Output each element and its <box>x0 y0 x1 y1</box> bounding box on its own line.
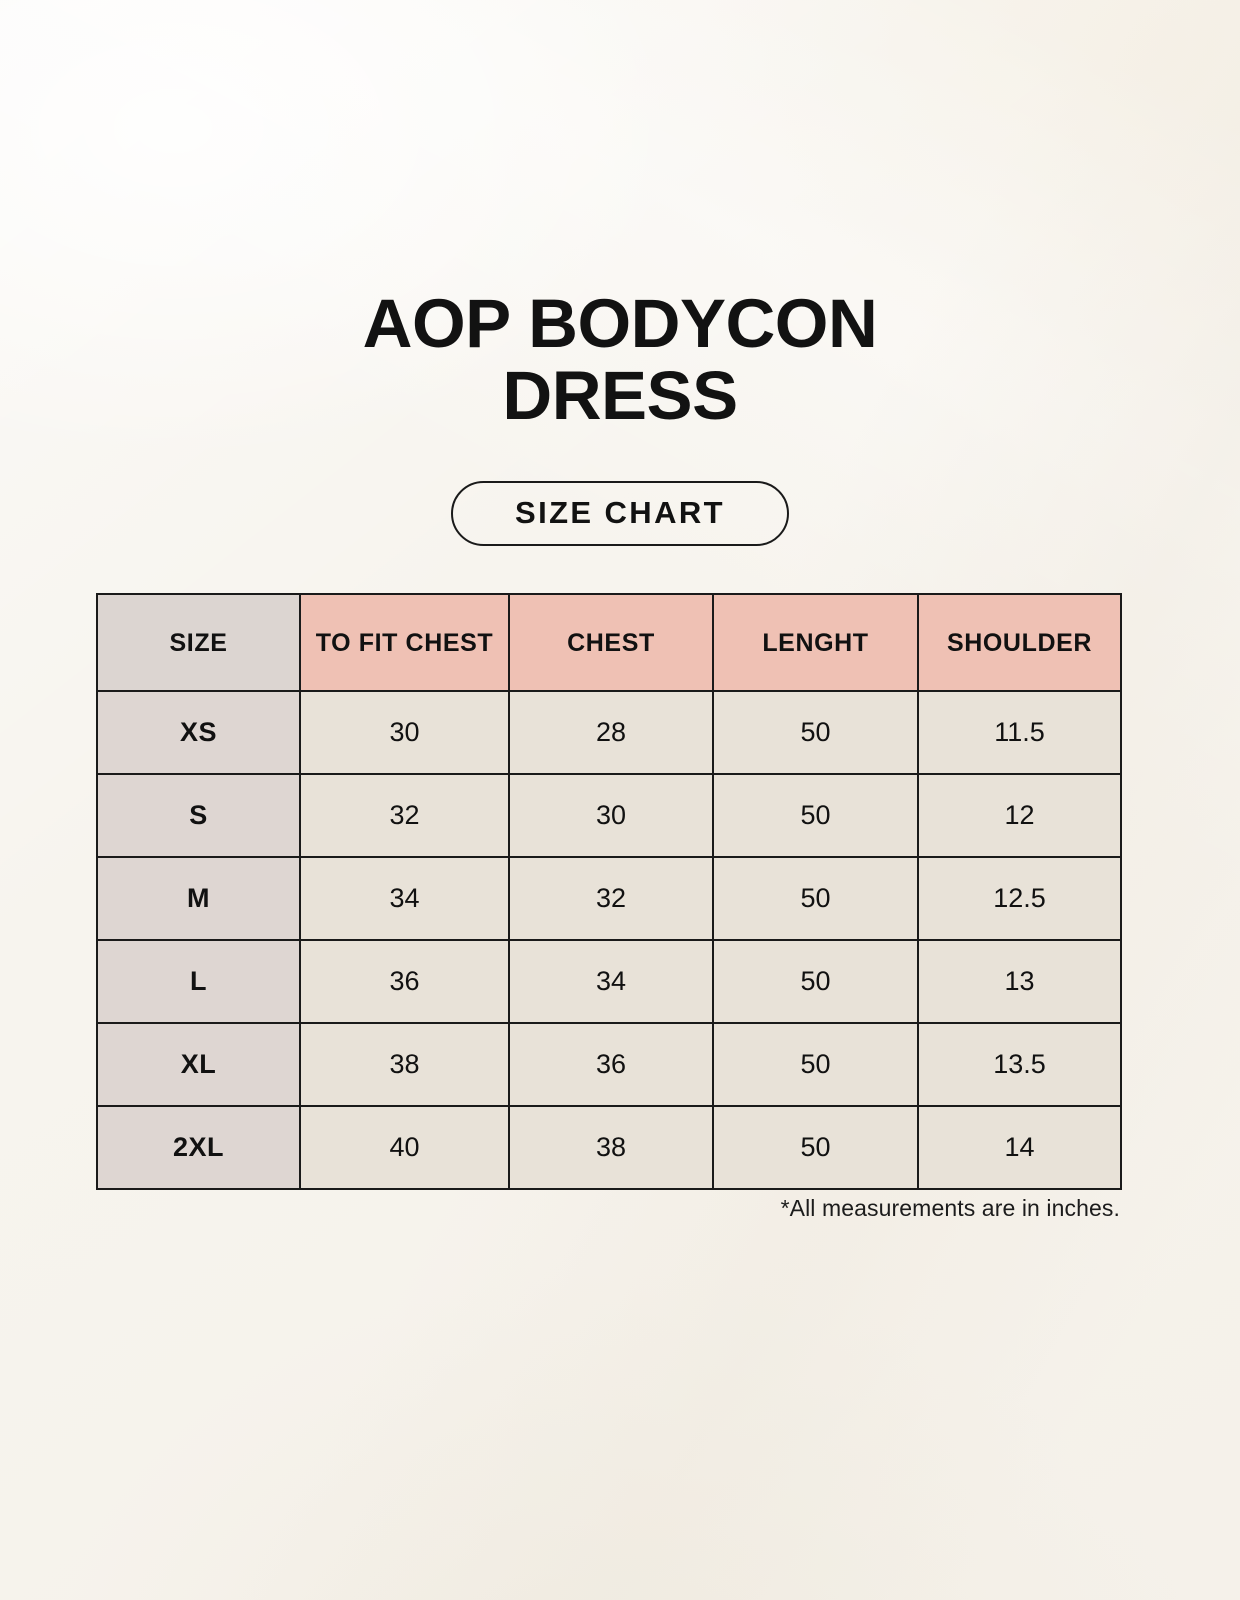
size-chart-table: SIZE TO FIT CHEST CHEST LENGHT SHOULDER … <box>96 593 1122 1190</box>
cell-shoulder: 14 <box>918 1106 1121 1189</box>
cell-chest: 34 <box>509 940 713 1023</box>
cell-shoulder: 12.5 <box>918 857 1121 940</box>
cell-length: 50 <box>713 940 918 1023</box>
column-header-to-fit-chest: TO FIT CHEST <box>300 594 509 691</box>
size-chart-page: AOP BODYCON DRESS SIZE CHART SIZE TO FIT… <box>0 0 1240 1600</box>
cell-length: 50 <box>713 691 918 774</box>
column-header-shoulder: SHOULDER <box>918 594 1121 691</box>
cell-to-fit-chest: 36 <box>300 940 509 1023</box>
table-row: 2XL 40 38 50 14 <box>97 1106 1121 1189</box>
table-row: XL 38 36 50 13.5 <box>97 1023 1121 1106</box>
cell-size: S <box>97 774 300 857</box>
table-row: XS 30 28 50 11.5 <box>97 691 1121 774</box>
table-header: SIZE TO FIT CHEST CHEST LENGHT SHOULDER <box>97 594 1121 691</box>
cell-size: M <box>97 857 300 940</box>
cell-to-fit-chest: 32 <box>300 774 509 857</box>
cell-length: 50 <box>713 1023 918 1106</box>
table-row: L 36 34 50 13 <box>97 940 1121 1023</box>
table-header-row: SIZE TO FIT CHEST CHEST LENGHT SHOULDER <box>97 594 1121 691</box>
size-chart-badge: SIZE CHART <box>451 481 789 546</box>
cell-length: 50 <box>713 1106 918 1189</box>
page-title-line-1: AOP BODYCON <box>363 285 878 362</box>
cell-chest: 38 <box>509 1106 713 1189</box>
cell-shoulder: 11.5 <box>918 691 1121 774</box>
size-chart-table-wrapper: SIZE TO FIT CHEST CHEST LENGHT SHOULDER … <box>96 593 1120 1190</box>
cell-chest: 36 <box>509 1023 713 1106</box>
cell-chest: 30 <box>509 774 713 857</box>
cell-to-fit-chest: 40 <box>300 1106 509 1189</box>
cell-to-fit-chest: 38 <box>300 1023 509 1106</box>
cell-shoulder: 12 <box>918 774 1121 857</box>
cell-size: XL <box>97 1023 300 1106</box>
column-header-size: SIZE <box>97 594 300 691</box>
table-body: XS 30 28 50 11.5 S 32 30 50 12 M 34 32 <box>97 691 1121 1189</box>
cell-size: L <box>97 940 300 1023</box>
column-header-length: LENGHT <box>713 594 918 691</box>
page-title-line-2: DRESS <box>502 357 737 434</box>
cell-length: 50 <box>713 857 918 940</box>
cell-chest: 32 <box>509 857 713 940</box>
cell-chest: 28 <box>509 691 713 774</box>
cell-length: 50 <box>713 774 918 857</box>
cell-size: XS <box>97 691 300 774</box>
cell-to-fit-chest: 30 <box>300 691 509 774</box>
page-title: AOP BODYCON DRESS <box>170 288 1070 432</box>
column-header-chest: CHEST <box>509 594 713 691</box>
table-row: M 34 32 50 12.5 <box>97 857 1121 940</box>
size-chart-badge-wrapper: SIZE CHART <box>0 481 1240 546</box>
cell-shoulder: 13 <box>918 940 1121 1023</box>
cell-shoulder: 13.5 <box>918 1023 1121 1106</box>
cell-size: 2XL <box>97 1106 300 1189</box>
cell-to-fit-chest: 34 <box>300 857 509 940</box>
table-row: S 32 30 50 12 <box>97 774 1121 857</box>
measurements-footnote: *All measurements are in inches. <box>96 1195 1120 1222</box>
